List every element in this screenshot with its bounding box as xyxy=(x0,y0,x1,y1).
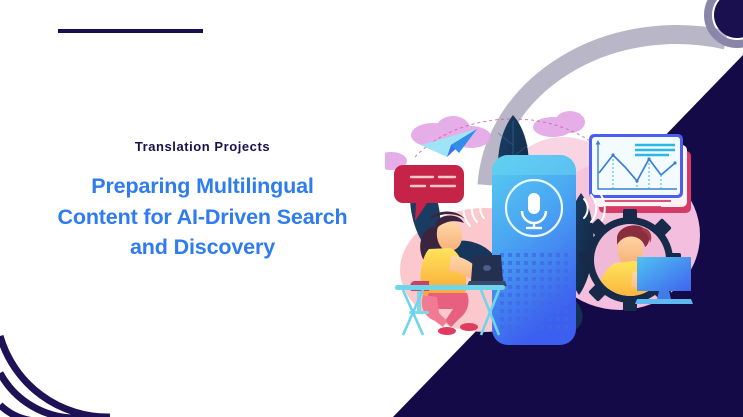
headline-line-2: Content for AI-Driven Search xyxy=(57,205,347,229)
headline-line-1: Preparing Multilingual xyxy=(91,174,313,198)
top-divider-rule xyxy=(58,29,203,33)
page-title: Preparing MultilingualContent for AI-Dri… xyxy=(30,171,375,263)
headline-line-3: and Discovery xyxy=(130,235,275,259)
slide-canvas: Translation Projects Preparing Multiling… xyxy=(0,0,743,417)
voice-search-ai-illustration xyxy=(385,95,705,345)
text-block: Translation Projects Preparing Multiling… xyxy=(30,140,375,263)
eyebrow-label: Translation Projects xyxy=(30,140,375,153)
